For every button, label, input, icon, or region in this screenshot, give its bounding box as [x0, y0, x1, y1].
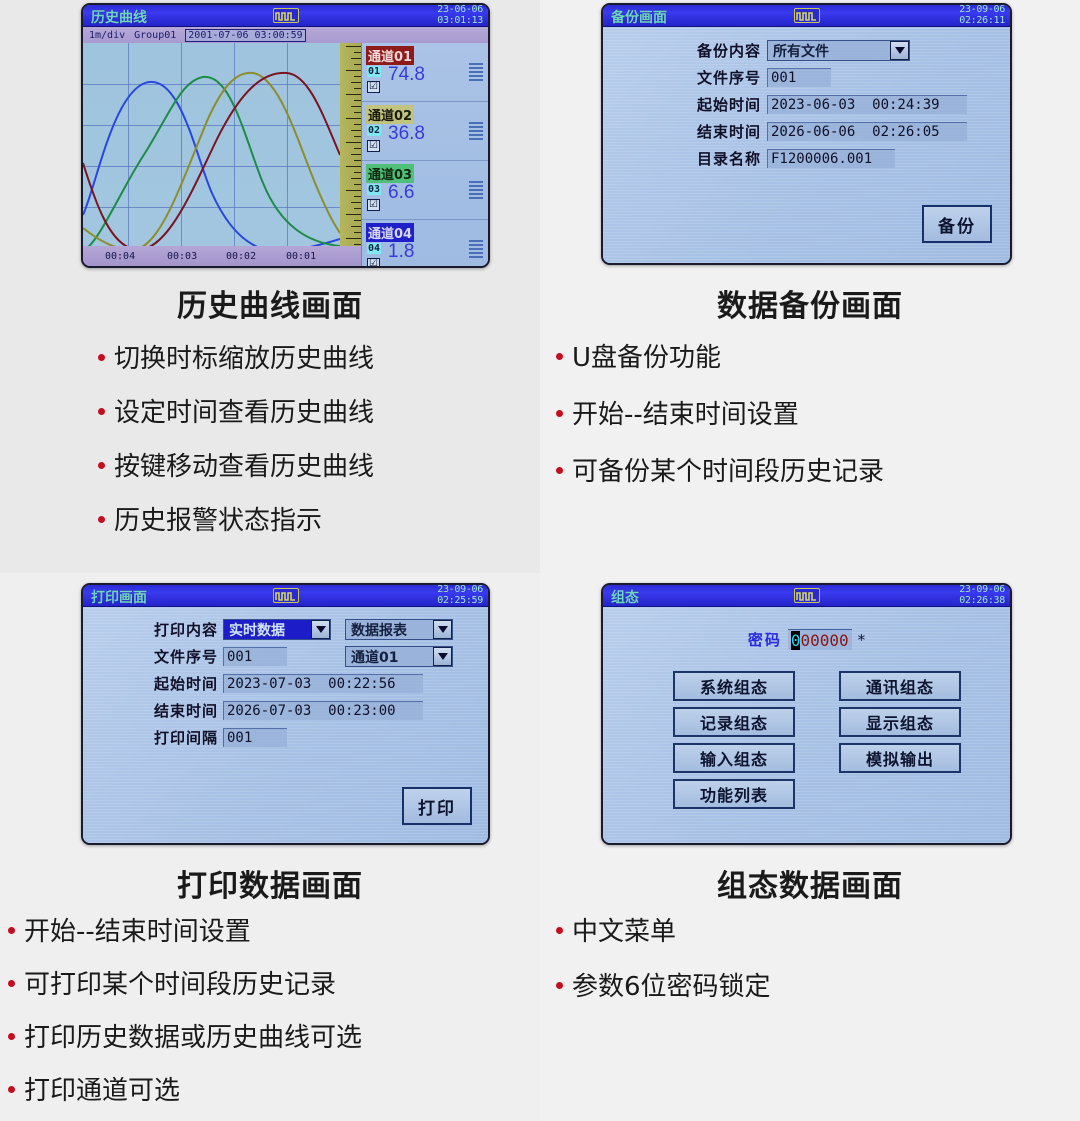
field-label: 结束时间 — [128, 700, 218, 721]
channel-value: 1.8 — [388, 241, 414, 263]
signal-bars-icon — [469, 240, 483, 260]
channel-value: 74.8 — [388, 64, 425, 86]
channel-tag: 通道04 — [366, 223, 414, 242]
history-title: 历史曲线 — [91, 7, 147, 27]
field-label: 目录名称 — [673, 148, 761, 169]
combo-value: 通道01 — [346, 647, 403, 667]
file-seq-value[interactable]: 001 — [223, 647, 287, 666]
waveform-icon — [273, 588, 299, 603]
backup-date: 23-09-06 — [959, 4, 1005, 15]
xaxis-label-3: 00:01 — [286, 251, 316, 262]
channel-checkbox[interactable]: ☑ — [367, 140, 380, 152]
chevron-down-icon[interactable] — [433, 620, 452, 639]
field-row-end-time: 结束时间 2026-07-03 00:23:00 — [128, 700, 488, 721]
print-body: 打印内容 实时数据 数据报表 文件序号 001 — [83, 607, 488, 843]
print-title: 打印画面 — [91, 587, 147, 607]
bullet-text: 设定时间查看历史曲线 — [114, 392, 374, 429]
function-list-button[interactable]: 功能列表 — [673, 779, 795, 809]
time-axis: 00:04 00:03 00:02 00:01 — [83, 246, 363, 266]
print-time: 02:25:59 — [437, 595, 483, 606]
history-toolbar: 1m/div Group01 2001-07-06 03:00:59 — [83, 27, 488, 43]
print-button[interactable]: 打印 — [402, 787, 472, 825]
field-label: 文件序号 — [673, 67, 761, 88]
curve-channel-04 — [83, 82, 340, 246]
field-label: 文件序号 — [128, 646, 218, 667]
combo-value: 数据报表 — [346, 620, 412, 640]
history-bullet-list: 切换时标缩放历史曲线 设定时间查看历史曲线 按键移动查看历史曲线 历史报警状态指… — [98, 338, 374, 537]
backup-titlebar: 备份画面 23-09-06 02:26:11 — [603, 5, 1010, 27]
curve-channel-03 — [83, 77, 340, 246]
analog-output-button[interactable]: 模拟输出 — [839, 743, 961, 773]
list-item: 开始--结束时间设置 — [8, 911, 362, 948]
channel-tag: 通道03 — [366, 164, 414, 183]
field-row-print-content: 打印内容 实时数据 数据报表 — [128, 619, 488, 640]
combo-value: 实时数据 — [224, 620, 290, 640]
channel-row[interactable]: 通道01 01 74.8 ☑ — [362, 43, 488, 102]
list-item: 可打印某个时间段历史记录 — [8, 964, 362, 1001]
record-config-button[interactable]: 记录组态 — [673, 707, 795, 737]
bullet-dot — [98, 516, 105, 523]
channel-number: 01 — [367, 66, 381, 77]
channel-number: 03 — [367, 184, 381, 195]
channel-value: 36.8 — [388, 123, 425, 145]
backup-bullet-list: U盘备份功能 开始--结束时间设置 可备份某个时间段历史记录 — [556, 337, 884, 488]
bullet-text: 切换时标缩放历史曲线 — [114, 338, 374, 375]
display-config-button[interactable]: 显示组态 — [839, 707, 961, 737]
quadrant-backup: 备份画面 23-09-06 02:26:11 备份内容 所有文件 — [540, 0, 1080, 573]
end-time-value[interactable]: 2026-07-03 00:23:00 — [223, 701, 423, 720]
bullet-text: 参数6位密码锁定 — [572, 966, 771, 1003]
list-item: U盘备份功能 — [556, 337, 884, 374]
history-caption-title: 历史曲线画面 — [0, 281, 540, 325]
backup-time: 02:26:11 — [959, 15, 1005, 26]
history-curve-screen[interactable]: 历史曲线 23-06-06 03:01:13 1m/div Group01 20… — [81, 3, 490, 268]
bullet-text: 按键移动查看历史曲线 — [114, 446, 374, 483]
field-row-dir-name: 目录名称 F1200006.001 — [673, 148, 1010, 169]
config-caption-title: 组态数据画面 — [540, 861, 1080, 905]
bullet-text: U盘备份功能 — [572, 337, 721, 374]
curve-channel-02 — [83, 73, 340, 246]
channel-tag: 通道02 — [366, 105, 414, 124]
list-item: 参数6位密码锁定 — [556, 966, 771, 1003]
config-body: 密码 000000 * 系统组态 记录组态 输入组态 功能列表 通讯组态 显示组… — [603, 607, 1010, 843]
field-row-start-time: 起始时间 2023-06-03 00:24:39 — [673, 94, 1010, 115]
print-date: 23-09-06 — [437, 584, 483, 595]
channel-row[interactable]: 通道04 04 1.8 ☑ — [362, 220, 488, 268]
history-time: 03:01:13 — [437, 15, 483, 26]
list-item: 历史报警状态指示 — [98, 500, 374, 537]
bullet-dot — [8, 927, 15, 934]
bullet-text: 开始--结束时间设置 — [24, 911, 251, 948]
channel-number: 02 — [367, 125, 381, 136]
quadrant-print: 打印画面 23-09-06 02:25:59 打印内容 实时数据 — [0, 573, 540, 1121]
xaxis-label-2: 00:02 — [226, 251, 256, 262]
channel-list: 通道01 01 74.8 ☑ 通道02 02 36.8 ☑ 通道03 — [361, 43, 488, 266]
channel-tag: 通道01 — [366, 46, 414, 65]
channel-checkbox[interactable]: ☑ — [367, 81, 380, 93]
history-titlebar: 历史曲线 23-06-06 03:01:13 — [83, 5, 488, 27]
field-row-backup-content: 备份内容 所有文件 — [673, 40, 1010, 61]
bullet-text: 打印通道可选 — [24, 1070, 180, 1107]
start-time-value[interactable]: 2023-07-03 00:22:56 — [223, 674, 423, 693]
bullet-dot — [8, 1086, 15, 1093]
backup-screen[interactable]: 备份画面 23-09-06 02:26:11 备份内容 所有文件 — [601, 3, 1012, 265]
waveform-icon — [794, 8, 820, 23]
field-row-end-time: 结束时间 2026-06-06 02:26:05 — [673, 121, 1010, 142]
list-item: 设定时间查看历史曲线 — [98, 392, 374, 429]
password-rest-digits: 00000 — [800, 631, 848, 650]
channel-row[interactable]: 通道02 02 36.8 ☑ — [362, 102, 488, 161]
config-date: 23-09-06 — [959, 584, 1005, 595]
print-titlebar: 打印画面 23-09-06 02:25:59 — [83, 585, 488, 607]
waveform-icon — [273, 8, 299, 23]
xaxis-label-0: 00:04 — [105, 251, 135, 262]
chevron-down-icon[interactable] — [890, 41, 909, 60]
bullet-text: 中文菜单 — [572, 911, 676, 948]
backup-caption-title: 数据备份画面 — [540, 281, 1080, 325]
field-row-start-time: 起始时间 2023-07-03 00:22:56 — [128, 673, 488, 694]
print-timestamp: 23-09-06 02:25:59 — [437, 584, 483, 606]
config-titlebar: 组态 23-09-06 02:26:38 — [603, 585, 1010, 607]
field-label: 起始时间 — [128, 673, 218, 694]
channel-number: 04 — [367, 243, 381, 254]
field-label: 打印间隔 — [128, 727, 218, 748]
channel-value: 6.6 — [388, 182, 414, 204]
print-interval-value[interactable]: 001 — [223, 728, 287, 747]
password-row: 密码 000000 * — [603, 629, 1010, 650]
signal-bars-icon — [469, 63, 483, 83]
cursor-timestamp[interactable]: 2001-07-06 03:00:59 — [185, 29, 305, 42]
comm-config-button[interactable]: 通讯组态 — [839, 671, 961, 701]
chevron-down-icon[interactable] — [433, 647, 452, 666]
bullet-text: 可打印某个时间段历史记录 — [24, 964, 336, 1001]
file-seq-value[interactable]: 001 — [767, 68, 831, 87]
bullet-text: 历史报警状态指示 — [114, 500, 322, 537]
password-input[interactable]: 000000 — [788, 629, 852, 650]
xaxis-label-1: 00:03 — [167, 251, 197, 262]
config-title: 组态 — [611, 587, 639, 607]
panel-grid: 历史曲线 23-06-06 03:01:13 1m/div Group01 20… — [0, 0, 1080, 1121]
bullet-dot — [98, 408, 105, 415]
start-time-value[interactable]: 2023-06-03 00:24:39 — [767, 95, 967, 114]
field-label: 备份内容 — [673, 40, 761, 61]
list-item: 可备份某个时间段历史记录 — [556, 451, 884, 488]
chevron-down-icon[interactable] — [311, 620, 330, 639]
history-date: 23-06-06 — [437, 4, 483, 15]
backup-body: 备份内容 所有文件 文件序号 001 起始时间 2023-06-03 00:24… — [603, 27, 1010, 263]
password-label: 密码 — [748, 629, 782, 650]
value-scale-bar — [340, 43, 363, 246]
channel-row[interactable]: 通道03 03 6.6 ☑ — [362, 161, 488, 220]
list-item: 打印历史数据或历史曲线可选 — [8, 1017, 362, 1054]
waveform-icon — [794, 588, 820, 603]
history-timestamp: 23-06-06 03:01:13 — [437, 4, 483, 26]
bullet-text: 打印历史数据或历史曲线可选 — [24, 1017, 362, 1054]
dir-name-value[interactable]: F1200006.001 — [767, 149, 895, 168]
backup-content-combo[interactable]: 所有文件 — [767, 40, 910, 61]
curve-plot-area[interactable] — [83, 43, 340, 246]
bullet-dot — [98, 354, 105, 361]
field-row-file-seq: 文件序号 001 — [673, 67, 1010, 88]
print-report-combo[interactable]: 数据报表 — [345, 619, 453, 640]
field-label: 起始时间 — [673, 94, 761, 115]
backup-timestamp: 23-09-06 02:26:11 — [959, 4, 1005, 26]
print-content-combo[interactable]: 实时数据 — [223, 619, 331, 640]
bullet-dot — [556, 927, 563, 934]
bullet-text: 可备份某个时间段历史记录 — [572, 451, 884, 488]
bullet-dot — [8, 980, 15, 987]
trend-curves — [83, 43, 340, 246]
quadrant-history: 历史曲线 23-06-06 03:01:13 1m/div Group01 20… — [0, 0, 540, 573]
field-row-print-interval: 打印间隔 001 — [128, 727, 488, 748]
backup-button[interactable]: 备份 — [922, 205, 992, 243]
curve-channel-01 — [83, 73, 340, 246]
bullet-text: 开始--结束时间设置 — [572, 394, 799, 431]
input-config-button[interactable]: 输入组态 — [673, 743, 795, 773]
password-marker: * — [858, 631, 866, 649]
field-row-file-seq: 文件序号 001 通道01 — [128, 646, 488, 667]
field-label: 结束时间 — [673, 121, 761, 142]
quadrant-config: 组态 23-09-06 02:26:38 密码 000000 * 系统组 — [540, 573, 1080, 1121]
field-label: 打印内容 — [128, 619, 218, 640]
print-screen[interactable]: 打印画面 23-09-06 02:25:59 打印内容 实时数据 — [81, 583, 490, 845]
print-caption-title: 打印数据画面 — [0, 861, 540, 905]
list-item: 切换时标缩放历史曲线 — [98, 338, 374, 375]
backup-title: 备份画面 — [611, 7, 667, 27]
bullet-dot — [556, 410, 563, 417]
channel-checkbox[interactable]: ☑ — [367, 258, 380, 268]
combo-value: 所有文件 — [768, 41, 834, 61]
list-item: 开始--结束时间设置 — [556, 394, 884, 431]
history-body: 1m/div Group01 2001-07-06 03:00:59 — [83, 27, 488, 266]
config-screen[interactable]: 组态 23-09-06 02:26:38 密码 000000 * 系统组 — [601, 583, 1012, 845]
print-channel-combo[interactable]: 通道01 — [345, 646, 453, 667]
list-item: 中文菜单 — [556, 911, 771, 948]
group-label: Group01 — [134, 30, 176, 41]
config-bullet-list: 中文菜单 参数6位密码锁定 — [556, 911, 771, 1003]
config-timestamp: 23-09-06 02:26:38 — [959, 584, 1005, 606]
signal-bars-icon — [469, 122, 483, 142]
bullet-dot — [556, 982, 563, 989]
scale-label: 1m/div — [89, 30, 125, 41]
list-item: 按键移动查看历史曲线 — [98, 446, 374, 483]
bullet-dot — [556, 467, 563, 474]
bullet-dot — [8, 1033, 15, 1040]
channel-checkbox[interactable]: ☑ — [367, 199, 380, 211]
signal-bars-icon — [469, 181, 483, 201]
print-bullet-list: 开始--结束时间设置 可打印某个时间段历史记录 打印历史数据或历史曲线可选 打印… — [8, 911, 362, 1107]
end-time-value[interactable]: 2026-06-06 02:26:05 — [767, 122, 967, 141]
config-time: 02:26:38 — [959, 595, 1005, 606]
bullet-dot — [98, 462, 105, 469]
bullet-dot — [556, 353, 563, 360]
system-config-button[interactable]: 系统组态 — [673, 671, 795, 701]
list-item: 打印通道可选 — [8, 1070, 362, 1107]
